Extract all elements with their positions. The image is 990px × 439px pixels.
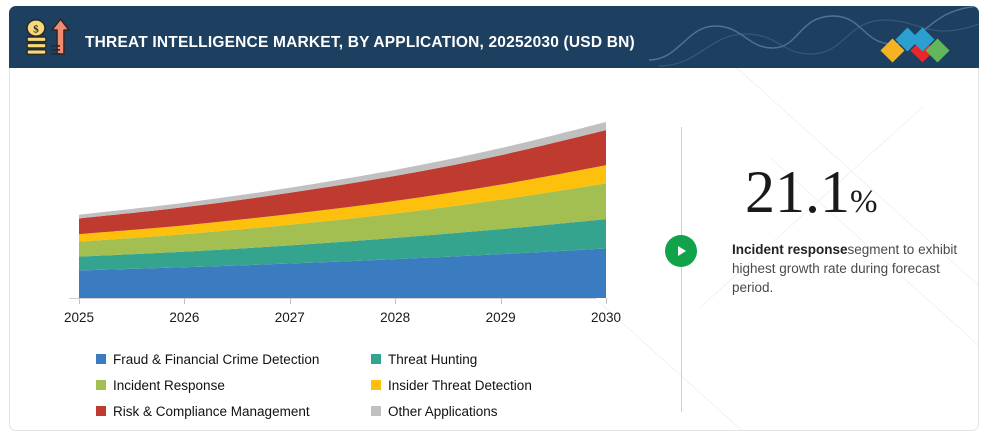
x-label-2026: 2026 xyxy=(149,310,219,325)
legend-item-6[interactable]: Other Applications xyxy=(371,399,498,423)
legend-item-4[interactable]: Insider Threat Detection xyxy=(371,373,532,397)
x-tick-2030 xyxy=(606,298,607,304)
legend-label: Threat Hunting xyxy=(388,352,477,367)
legend-swatch-icon xyxy=(371,354,381,364)
diamond-decoration xyxy=(884,28,974,62)
x-label-2028: 2028 xyxy=(360,310,430,325)
infographic-card: 202520262027202820292030 Fraud & Financi… xyxy=(9,6,979,431)
x-tick-2027 xyxy=(290,298,291,304)
header-bar: $ THREAT INTELLIGENCE MARKET, BY APPLICA… xyxy=(9,6,979,68)
money-growth-icon: $ xyxy=(22,15,70,59)
legend-label: Insider Threat Detection xyxy=(388,378,532,393)
headline-statistic: 21.1% xyxy=(745,162,878,222)
legend-item-5[interactable]: Risk & Compliance Management xyxy=(96,399,310,423)
panel-divider xyxy=(681,127,682,412)
legend-swatch-icon xyxy=(96,380,106,390)
page-title: THREAT INTELLIGENCE MARKET, BY APPLICATI… xyxy=(85,34,635,52)
headline-value: 21.1 xyxy=(745,159,850,225)
legend-label: Risk & Compliance Management xyxy=(113,404,310,419)
stacked-area-chart xyxy=(20,77,640,317)
headline-description: Incident responsesegment to exhibit high… xyxy=(732,240,967,297)
x-label-2027: 2027 xyxy=(255,310,325,325)
legend-swatch-icon xyxy=(96,354,106,364)
x-tick-2029 xyxy=(501,298,502,304)
svg-text:$: $ xyxy=(33,24,39,36)
x-tick-2025 xyxy=(79,298,80,304)
headline-description-bold: Incident response xyxy=(732,242,848,257)
legend-item-3[interactable]: Incident Response xyxy=(96,373,225,397)
x-tick-2028 xyxy=(395,298,396,304)
legend-swatch-icon xyxy=(96,406,106,416)
legend-label: Fraud & Financial Crime Detection xyxy=(113,352,319,367)
x-label-2030: 2030 xyxy=(571,310,641,325)
x-label-2029: 2029 xyxy=(466,310,536,325)
legend-swatch-icon xyxy=(371,406,381,416)
legend-item-2[interactable]: Threat Hunting xyxy=(371,347,477,371)
play-marker-icon xyxy=(665,235,697,267)
legend-label: Incident Response xyxy=(113,378,225,393)
x-tick-2026 xyxy=(184,298,185,304)
headline-unit: % xyxy=(850,184,878,220)
legend-label: Other Applications xyxy=(388,404,498,419)
legend-item-1[interactable]: Fraud & Financial Crime Detection xyxy=(96,347,319,371)
x-label-2025: 2025 xyxy=(44,310,114,325)
legend-swatch-icon xyxy=(371,380,381,390)
